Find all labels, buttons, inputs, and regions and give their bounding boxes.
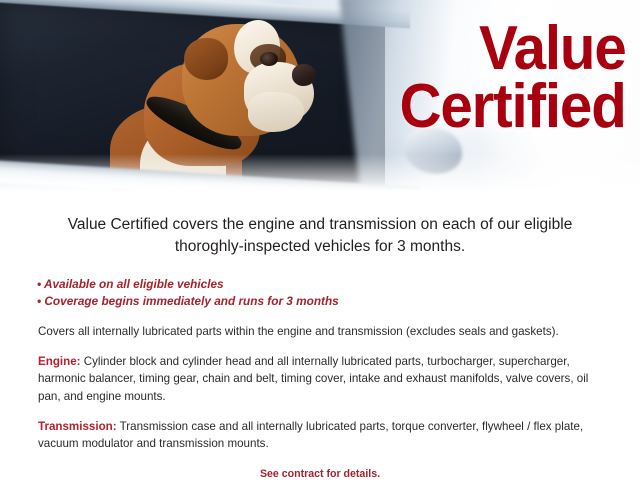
bullet-item-0: • Available on all eligible vehicles [37, 276, 640, 293]
coverage-note: Covers all internally lubricated parts w… [38, 324, 602, 341]
banner-bottom-fade [0, 154, 640, 200]
content-area: Value Certified covers the engine and tr… [0, 200, 640, 480]
engine-coverage-paragraph: Engine: Cylinder block and cylinder head… [38, 353, 602, 404]
bullet-item-1: • Coverage begins immediately and runs f… [37, 293, 640, 310]
transmission-coverage-text: Transmission case and all internally lub… [38, 420, 583, 450]
benefit-bullet-list: • Available on all eligible vehicles • C… [37, 276, 640, 310]
value-certified-flyer: Value Certified Value Certified covers t… [0, 0, 640, 480]
dog-ear [184, 38, 228, 80]
dog-nose [292, 64, 316, 86]
dog-jowl [248, 92, 304, 132]
hero-banner: Value Certified [0, 0, 640, 200]
wordmark-line-2: Certified [400, 78, 626, 136]
contract-footnote: See contract for details. [0, 468, 640, 480]
brand-wordmark: Value Certified [385, 20, 626, 135]
transmission-label: Transmission: [38, 420, 117, 433]
wordmark-line-1: Value [400, 20, 626, 78]
lead-paragraph: Value Certified covers the engine and tr… [40, 214, 600, 258]
engine-label: Engine: [38, 355, 81, 368]
transmission-coverage-paragraph: Transmission: Transmission case and all … [38, 418, 602, 452]
dog-eye [260, 52, 278, 66]
engine-coverage-text: Cylinder block and cylinder head and all… [38, 355, 588, 402]
